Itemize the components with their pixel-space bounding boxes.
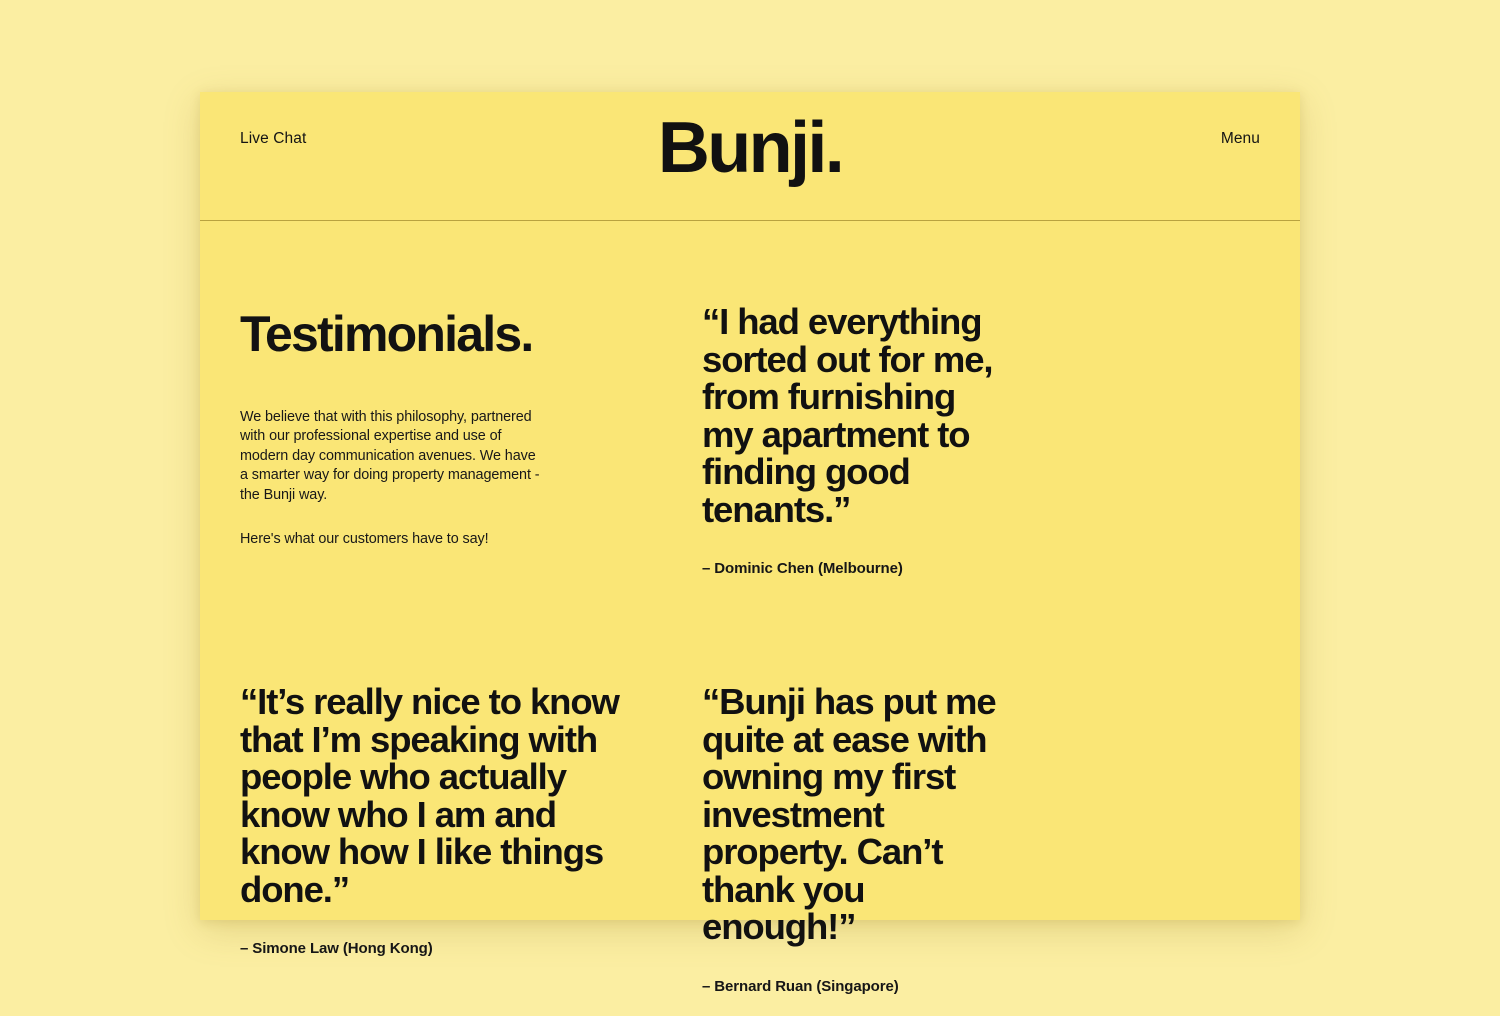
testimonial-card: “Bunji has put me quite at ease with own… [702, 577, 1260, 995]
testimonial-attribution: – Dominic Chen (Melbourne) [702, 560, 1260, 577]
page-root: Live Chat Bunji. Menu Testimonials. We b… [0, 0, 1500, 1016]
testimonial-card: “I had everything sorted out for me, fro… [702, 221, 1260, 577]
intro-paragraph-1: We believe that with this philosophy, pa… [240, 408, 540, 505]
testimonial-card: “It’s really nice to know that I’m speak… [240, 577, 702, 995]
testimonial-quote: “Bunji has put me quite at ease with own… [702, 683, 1022, 946]
testimonial-attribution: – Simone Law (Hong Kong) [240, 940, 702, 957]
page-title: Testimonials. [240, 309, 702, 360]
testimonials-grid: Testimonials. We believe that with this … [240, 221, 1260, 995]
menu-button[interactable]: Menu [1221, 130, 1260, 148]
main-content: Testimonials. We believe that with this … [200, 221, 1300, 995]
site-card: Live Chat Bunji. Menu Testimonials. We b… [200, 92, 1300, 920]
testimonial-attribution: – Bernard Ruan (Singapore) [702, 978, 1260, 995]
site-header: Live Chat Bunji. Menu [200, 92, 1300, 221]
intro-paragraph-2: Here's what our customers have to say! [240, 530, 540, 549]
testimonial-quote: “It’s really nice to know that I’m speak… [240, 683, 620, 908]
testimonial-quote: “I had everything sorted out for me, fro… [702, 303, 1002, 528]
brand-logo[interactable]: Bunji. [200, 112, 1300, 184]
intro-block: Testimonials. We believe that with this … [240, 221, 702, 577]
